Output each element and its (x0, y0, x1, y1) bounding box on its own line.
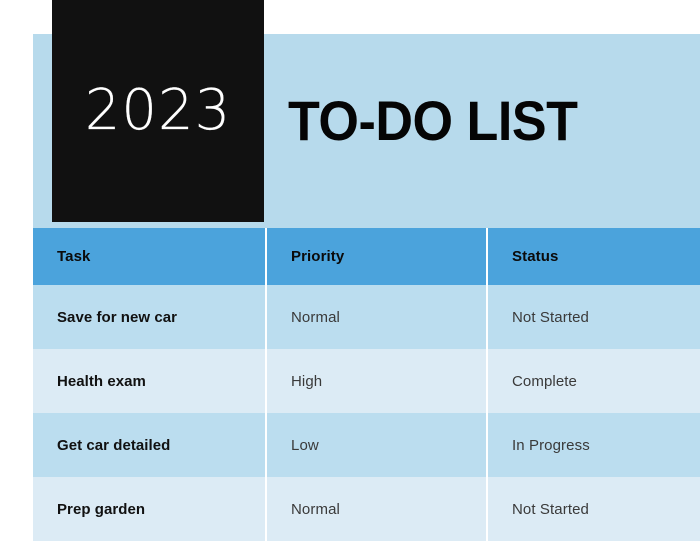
table-header: Task Priority Status (33, 228, 700, 285)
cell-priority: Normal (266, 477, 487, 541)
cell-status: Not Started (487, 477, 700, 541)
cell-task: Get car detailed (33, 413, 266, 477)
cell-task: Health exam (33, 349, 266, 413)
year-label: 2023 (85, 83, 232, 139)
cell-status: In Progress (487, 413, 700, 477)
table-row[interactable]: Prep garden Normal Not Started (33, 477, 700, 541)
table-body: Save for new car Normal Not Started Heal… (33, 285, 700, 541)
year-badge: 2023 (52, 0, 264, 222)
table-header-row: Task Priority Status (33, 228, 700, 285)
column-header-status[interactable]: Status (487, 228, 700, 285)
column-header-task[interactable]: Task (33, 228, 266, 285)
cell-status: Complete (487, 349, 700, 413)
cell-priority: High (266, 349, 487, 413)
cell-task: Prep garden (33, 477, 266, 541)
table-row[interactable]: Get car detailed Low In Progress (33, 413, 700, 477)
cell-status: Not Started (487, 285, 700, 349)
page-title: TO-DO LIST (288, 92, 578, 150)
cell-priority: Normal (266, 285, 487, 349)
page-canvas: 2023 TO-DO LIST Task Priority Status Sav… (0, 0, 700, 542)
cell-priority: Low (266, 413, 487, 477)
column-header-priority[interactable]: Priority (266, 228, 487, 285)
cell-task: Save for new car (33, 285, 266, 349)
table-row[interactable]: Save for new car Normal Not Started (33, 285, 700, 349)
table-row[interactable]: Health exam High Complete (33, 349, 700, 413)
todo-table: Task Priority Status Save for new car No… (33, 228, 700, 541)
